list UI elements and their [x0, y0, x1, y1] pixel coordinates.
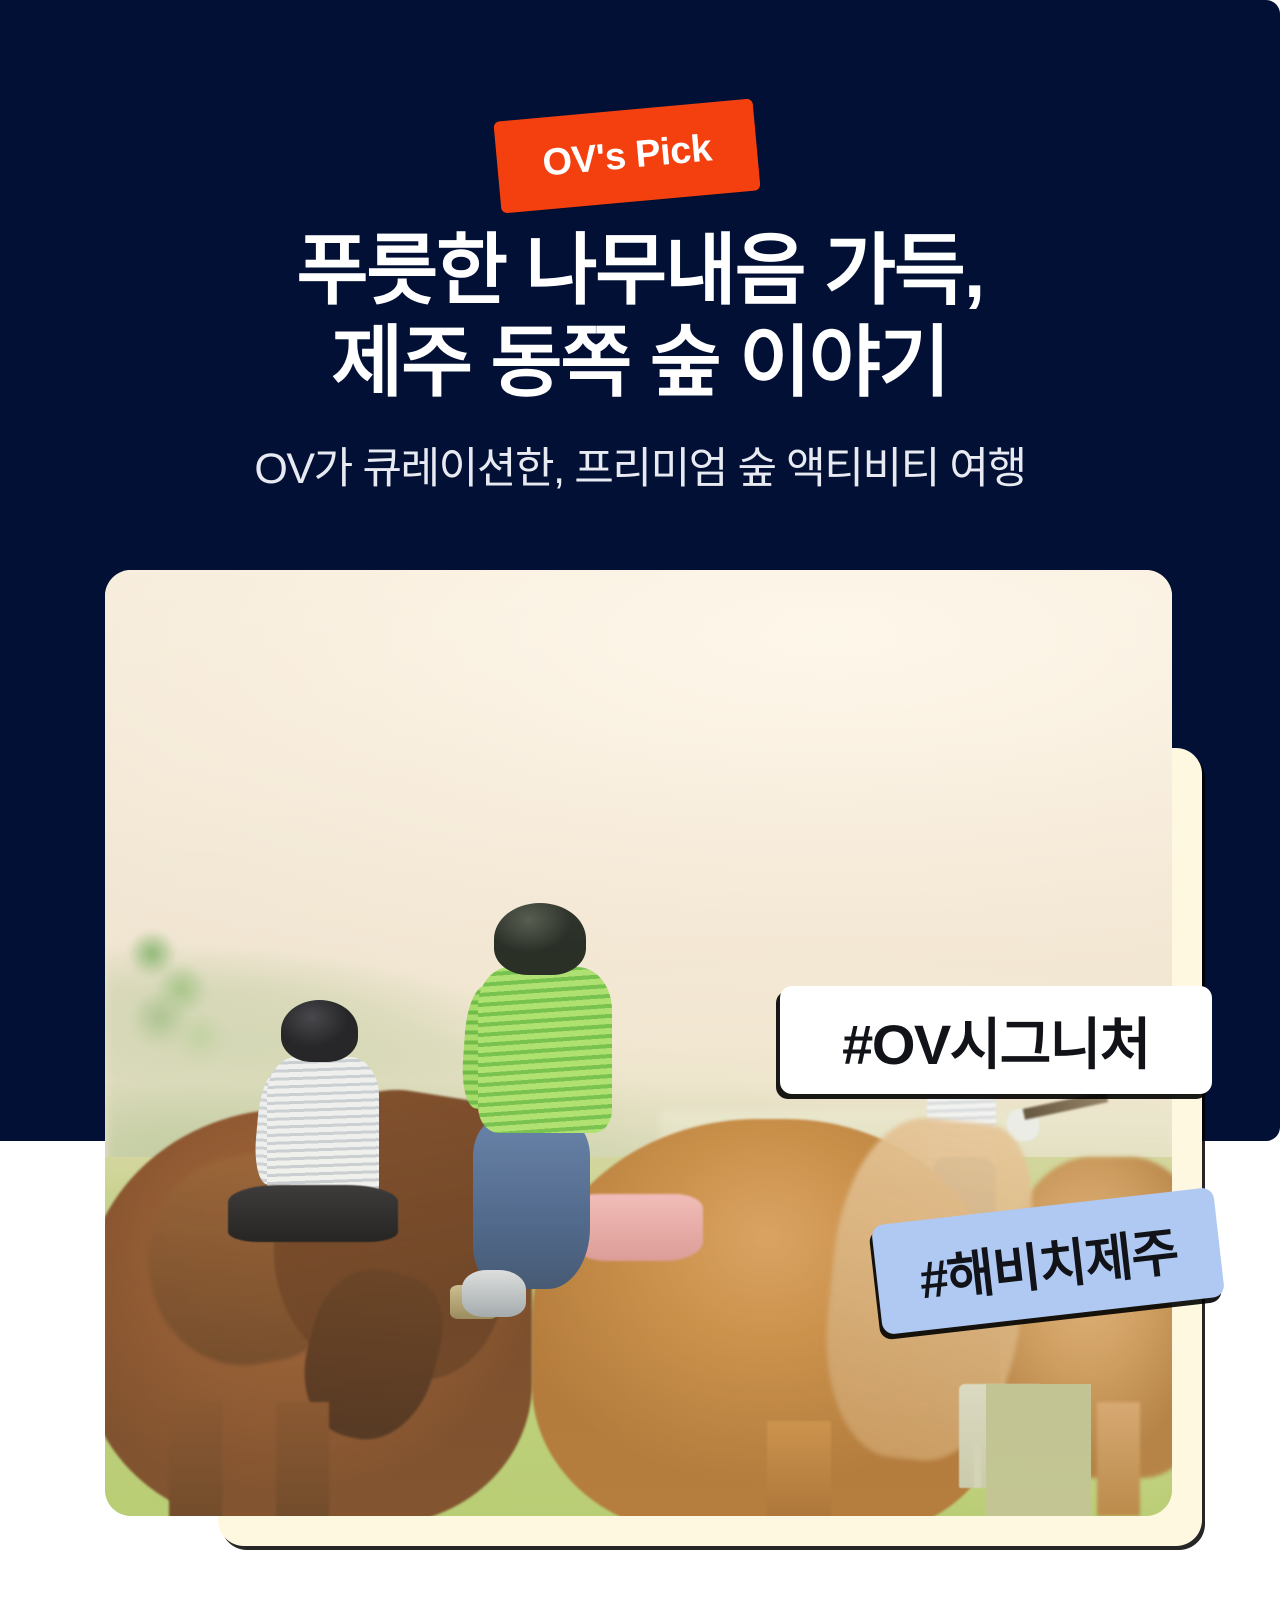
hashtag-haevichi-jeju-label: #해비치제주: [915, 1209, 1181, 1313]
page-title-line-1: 푸릇한 나무내음 가득,: [0, 224, 1280, 316]
ovs-pick-badge-label: OV's Pick: [541, 129, 713, 182]
promo-card-root: OV's Pick 푸릇한 나무내음 가득, 제주 동쪽 숲 이야기 OV가 큐…: [0, 0, 1280, 1600]
hashtag-ov-signature[interactable]: #OV시그니처: [780, 986, 1212, 1094]
page-title: 푸릇한 나무내음 가득, 제주 동쪽 숲 이야기: [0, 224, 1280, 408]
page-title-line-2: 제주 동쪽 숲 이야기: [0, 316, 1280, 408]
page-subtitle: OV가 큐레이션한, 프리미엄 숲 액티비티 여행: [0, 443, 1280, 497]
hashtag-ov-signature-label: #OV시그니처: [842, 1000, 1150, 1081]
